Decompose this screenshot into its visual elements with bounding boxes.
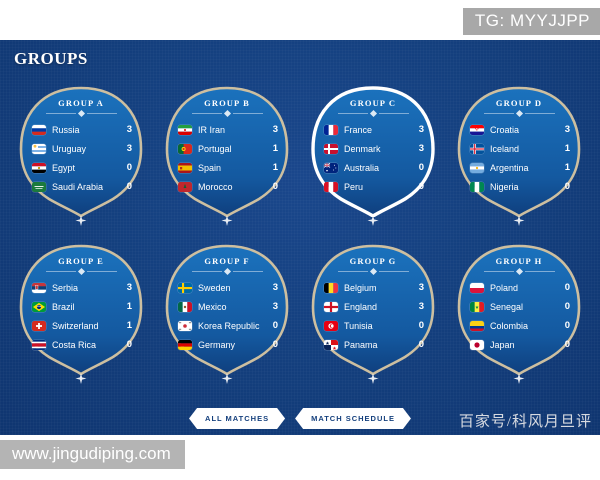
divider-diamond-icon (515, 268, 522, 275)
shield-star-icon (514, 373, 525, 384)
shield-star-icon (222, 215, 233, 226)
team-name: Egypt (52, 163, 122, 173)
divider-line-left (46, 271, 76, 272)
group-title: GROUP A (26, 98, 136, 108)
group-title: GROUP B (172, 98, 282, 108)
team-name: Peru (344, 182, 414, 192)
flag-russia-icon (32, 125, 46, 135)
flag-spain-icon (178, 163, 192, 173)
team-row[interactable]: Korea Republic0 (172, 316, 282, 335)
team-points: 0 (560, 181, 570, 192)
group-card-group-f[interactable]: GROUP FSweden3Mexico3Korea Republic0Germ… (154, 243, 300, 401)
team-name: France (344, 125, 414, 135)
team-name: IR Iran (198, 125, 268, 135)
flag-england-icon (324, 302, 338, 312)
team-row[interactable]: Russia3 (26, 120, 136, 139)
team-row[interactable]: Portugal1 (172, 139, 282, 158)
divider-line-left (338, 271, 368, 272)
group-card-content: GROUP HPoland0Senegal0Colombia0Japan0 (455, 243, 583, 375)
team-row[interactable]: Japan0 (464, 335, 574, 354)
team-name: Costa Rica (52, 340, 122, 350)
team-name: Mexico (198, 302, 268, 312)
team-points: 3 (268, 124, 278, 135)
team-points: 0 (560, 301, 570, 312)
divider-line-right (87, 113, 117, 114)
team-points: 0 (122, 181, 132, 192)
group-card-group-b[interactable]: GROUP BIR Iran3Portugal1Spain1Morocco0 (154, 85, 300, 243)
team-name: Korea Republic (198, 321, 268, 331)
team-name: Nigeria (490, 182, 560, 192)
team-points: 0 (414, 320, 424, 331)
team-row[interactable]: Sweden3 (172, 278, 282, 297)
team-name: Portugal (198, 144, 268, 154)
divider-diamond-icon (369, 268, 376, 275)
team-name: Australia (344, 163, 414, 173)
group-card-content: GROUP DCroatia3Iceland1Argentina1Nigeria… (455, 85, 583, 217)
group-title-divider (172, 269, 282, 274)
shield-star-icon (514, 215, 525, 226)
group-card-group-g[interactable]: GROUP GBelgium3England3Tunisia0Panama0 (300, 243, 446, 401)
team-name: Russia (52, 125, 122, 135)
group-title-divider (172, 111, 282, 116)
team-row[interactable]: IR Iran3 (172, 120, 282, 139)
divider-line-left (192, 113, 222, 114)
team-points: 0 (560, 320, 570, 331)
team-row[interactable]: Brazil1 (26, 297, 136, 316)
team-row[interactable]: Switzerland1 (26, 316, 136, 335)
flag-denmark-icon (324, 144, 338, 154)
divider-line-right (233, 113, 263, 114)
group-card-content: GROUP CFrance3Denmark3Australia0Peru0 (309, 85, 437, 217)
flag-poland-icon (470, 283, 484, 293)
team-name: Brazil (52, 302, 122, 312)
team-name: Iceland (490, 144, 560, 154)
team-points: 1 (268, 143, 278, 154)
team-name: England (344, 302, 414, 312)
team-row[interactable]: Morocco0 (172, 177, 282, 196)
group-card-group-d[interactable]: GROUP DCroatia3Iceland1Argentina1Nigeria… (446, 85, 592, 243)
shield-star-icon (222, 373, 233, 384)
team-row[interactable]: Senegal0 (464, 297, 574, 316)
team-points: 1 (560, 143, 570, 154)
team-row[interactable]: Australia0 (318, 158, 428, 177)
team-row[interactable]: France3 (318, 120, 428, 139)
team-row[interactable]: England3 (318, 297, 428, 316)
flag-australia-icon (324, 163, 338, 173)
divider-diamond-icon (515, 110, 522, 117)
divider-line-right (379, 271, 409, 272)
team-points: 3 (268, 282, 278, 293)
team-name: Uruguay (52, 144, 122, 154)
flag-switzerland-icon (32, 321, 46, 331)
team-name: Germany (198, 340, 268, 350)
team-points: 0 (414, 162, 424, 173)
team-points: 0 (414, 181, 424, 192)
flag-senegal-icon (470, 302, 484, 312)
screenshot-root: TG: MYYJJPP GROUPS GROUP ARussia3Uruguay… (0, 0, 600, 480)
flag-croatia-icon (470, 125, 484, 135)
shield-star-icon (76, 373, 87, 384)
tg-watermark: TG: MYYJJPP (463, 8, 600, 35)
shield-star-icon (76, 215, 87, 226)
flag-mexico-icon (178, 302, 192, 312)
team-name: Denmark (344, 144, 414, 154)
flag-costa-rica-icon (32, 340, 46, 350)
group-title-divider (26, 111, 136, 116)
all-matches-button[interactable]: ALL MATCHES (189, 408, 285, 429)
team-name: Senegal (490, 302, 560, 312)
team-row[interactable]: Uruguay3 (26, 139, 136, 158)
team-points: 1 (560, 162, 570, 173)
team-points: 3 (414, 124, 424, 135)
team-row[interactable]: Colombia0 (464, 316, 574, 335)
team-points: 0 (560, 339, 570, 350)
flag-peru-icon (324, 182, 338, 192)
team-points: 3 (414, 282, 424, 293)
team-row[interactable]: Serbia3 (26, 278, 136, 297)
team-name: Croatia (490, 125, 560, 135)
url-watermark: www.jingudiping.com (0, 440, 185, 469)
team-points: 1 (122, 301, 132, 312)
flag-serbia-icon (32, 283, 46, 293)
divider-diamond-icon (223, 268, 230, 275)
shield-star-icon (368, 215, 379, 226)
team-name: Sweden (198, 283, 268, 293)
flag-uruguay-icon (32, 144, 46, 154)
team-name: Japan (490, 340, 560, 350)
divider-diamond-icon (369, 110, 376, 117)
divider-line-left (338, 113, 368, 114)
team-name: Morocco (198, 182, 268, 192)
chinese-watermark: 百家号/科风月旦评 (459, 410, 592, 431)
flag-tunisia-icon (324, 321, 338, 331)
divider-line-right (233, 271, 263, 272)
divider-line-left (484, 113, 514, 114)
team-row[interactable]: Costa Rica0 (26, 335, 136, 354)
group-title: GROUP G (318, 256, 428, 266)
team-row[interactable]: Panama0 (318, 335, 428, 354)
divider-line-right (525, 271, 555, 272)
team-name: Panama (344, 340, 414, 350)
page-title: GROUPS (14, 49, 88, 69)
team-row[interactable]: Poland0 (464, 278, 574, 297)
group-card-group-c[interactable]: GROUP CFrance3Denmark3Australia0Peru0 (300, 85, 446, 243)
divider-line-right (379, 113, 409, 114)
group-title-divider (318, 269, 428, 274)
group-card-content: GROUP FSweden3Mexico3Korea Republic0Germ… (163, 243, 291, 375)
team-row[interactable]: Argentina1 (464, 158, 574, 177)
groups-panel: GROUPS GROUP ARussia3Uruguay3Egypt0Saudi… (0, 40, 600, 435)
flag-argentina-icon (470, 163, 484, 173)
team-points: 3 (122, 143, 132, 154)
team-points: 0 (268, 339, 278, 350)
group-title-divider (318, 111, 428, 116)
team-row[interactable]: Peru0 (318, 177, 428, 196)
team-name: Colombia (490, 321, 560, 331)
team-points: 3 (122, 124, 132, 135)
team-points: 3 (122, 282, 132, 293)
team-points: 0 (268, 181, 278, 192)
flag-brazil-icon (32, 302, 46, 312)
divider-diamond-icon (77, 268, 84, 275)
group-title: GROUP D (464, 98, 574, 108)
shield-star-icon (368, 373, 379, 384)
flag-panama-icon (324, 340, 338, 350)
flag-japan-icon (470, 340, 484, 350)
team-row[interactable]: Iceland1 (464, 139, 574, 158)
team-name: Argentina (490, 163, 560, 173)
group-card-content: GROUP ARussia3Uruguay3Egypt0Saudi Arabia… (17, 85, 145, 217)
team-name: Switzerland (52, 321, 122, 331)
divider-line-left (484, 271, 514, 272)
match-schedule-button[interactable]: MATCH SCHEDULE (295, 408, 411, 429)
flag-belgium-icon (324, 283, 338, 293)
flag-korea-republic-icon (178, 321, 192, 331)
team-row[interactable]: Mexico3 (172, 297, 282, 316)
team-name: Saudi Arabia (52, 182, 122, 192)
team-name: Poland (490, 283, 560, 293)
group-title: GROUP C (318, 98, 428, 108)
team-points: 0 (122, 162, 132, 173)
team-points: 0 (560, 282, 570, 293)
team-row[interactable]: Croatia3 (464, 120, 574, 139)
team-name: Belgium (344, 283, 414, 293)
team-points: 1 (268, 162, 278, 173)
group-title-divider (464, 111, 574, 116)
team-points: 3 (560, 124, 570, 135)
divider-diamond-icon (77, 110, 84, 117)
group-title-divider (464, 269, 574, 274)
group-card-group-e[interactable]: GROUP ESerbia3Brazil1Switzerland1Costa R… (8, 243, 154, 401)
team-name: Spain (198, 163, 268, 173)
divider-diamond-icon (223, 110, 230, 117)
team-row[interactable]: Germany0 (172, 335, 282, 354)
flag-germany-icon (178, 340, 192, 350)
team-points: 1 (122, 320, 132, 331)
team-row[interactable]: Denmark3 (318, 139, 428, 158)
groups-grid: GROUP ARussia3Uruguay3Egypt0Saudi Arabia… (8, 85, 592, 401)
group-card-group-a[interactable]: GROUP ARussia3Uruguay3Egypt0Saudi Arabia… (8, 85, 154, 243)
flag-sweden-icon (178, 283, 192, 293)
team-points: 3 (414, 301, 424, 312)
divider-line-left (46, 113, 76, 114)
team-points: 0 (414, 339, 424, 350)
team-name: Serbia (52, 283, 122, 293)
team-points: 3 (268, 301, 278, 312)
team-points: 3 (414, 143, 424, 154)
flag-portugal-icon (178, 144, 192, 154)
team-points: 0 (268, 320, 278, 331)
flag-colombia-icon (470, 321, 484, 331)
group-card-content: GROUP ESerbia3Brazil1Switzerland1Costa R… (17, 243, 145, 375)
flag-iran-icon (178, 125, 192, 135)
flag-saudi-arabia-icon (32, 182, 46, 192)
team-row[interactable]: Tunisia0 (318, 316, 428, 335)
team-row[interactable]: Egypt0 (26, 158, 136, 177)
team-points: 0 (122, 339, 132, 350)
group-title-divider (26, 269, 136, 274)
group-title: GROUP H (464, 256, 574, 266)
team-name: Tunisia (344, 321, 414, 331)
team-row[interactable]: Nigeria0 (464, 177, 574, 196)
group-title: GROUP E (26, 256, 136, 266)
group-card-content: GROUP GBelgium3England3Tunisia0Panama0 (309, 243, 437, 375)
divider-line-right (525, 113, 555, 114)
team-row[interactable]: Spain1 (172, 158, 282, 177)
divider-line-right (87, 271, 117, 272)
team-row[interactable]: Saudi Arabia0 (26, 177, 136, 196)
team-row[interactable]: Belgium3 (318, 278, 428, 297)
group-card-content: GROUP BIR Iran3Portugal1Spain1Morocco0 (163, 85, 291, 217)
flag-morocco-icon (178, 182, 192, 192)
flag-iceland-icon (470, 144, 484, 154)
flag-france-icon (324, 125, 338, 135)
group-card-group-h[interactable]: GROUP HPoland0Senegal0Colombia0Japan0 (446, 243, 592, 401)
group-title: GROUP F (172, 256, 282, 266)
flag-nigeria-icon (470, 182, 484, 192)
divider-line-left (192, 271, 222, 272)
flag-egypt-icon (32, 163, 46, 173)
